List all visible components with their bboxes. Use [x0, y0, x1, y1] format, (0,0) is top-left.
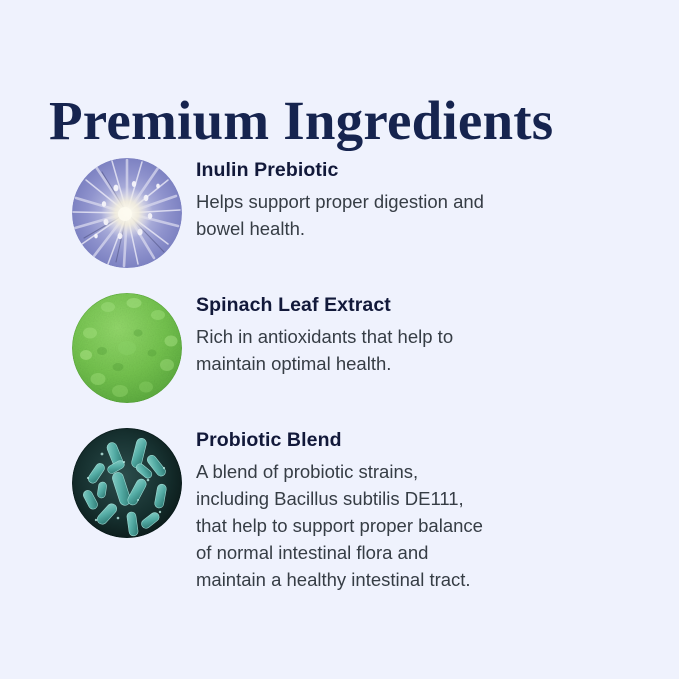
ingredient-text-block: Probiotic Blend A blend of probiotic str… — [196, 420, 483, 593]
inulin-prebiotic-photo — [72, 158, 182, 268]
spinach-leaf-extract-photo — [72, 293, 182, 403]
ingredient-text-block: Spinach Leaf Extract Rich in antioxidant… — [196, 285, 453, 378]
ingredient-item-inulin-prebiotic: Inulin Prebiotic Helps support proper di… — [0, 150, 679, 268]
ingredient-list: Inulin Prebiotic Helps support proper di… — [0, 150, 679, 593]
probiotic-blend-photo — [72, 428, 182, 538]
ingredient-title: Inulin Prebiotic — [196, 158, 484, 182]
page-title: Premium Ingredients — [49, 92, 553, 150]
ingredient-description: A blend of probiotic strains, including … — [196, 459, 483, 593]
ingredient-text-block: Inulin Prebiotic Helps support proper di… — [196, 150, 484, 243]
ingredient-title: Probiotic Blend — [196, 428, 483, 452]
ingredient-description: Helps support proper digestion and bowel… — [196, 189, 484, 243]
ingredient-description: Rich in antioxidants that help to mainta… — [196, 324, 453, 378]
ingredient-title: Spinach Leaf Extract — [196, 293, 453, 317]
ingredient-item-probiotic-blend: Probiotic Blend A blend of probiotic str… — [0, 420, 679, 593]
ingredient-item-spinach-leaf-extract: Spinach Leaf Extract Rich in antioxidant… — [0, 285, 679, 403]
premium-ingredients-panel: Premium Ingredients — [0, 0, 679, 679]
